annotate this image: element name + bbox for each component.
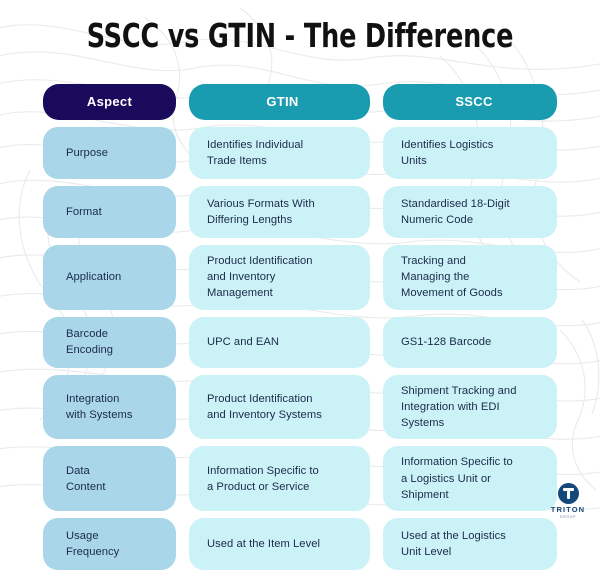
cell-text: GS1-128 Barcode bbox=[401, 334, 491, 350]
table-row: Integration with Systems Product Identif… bbox=[43, 375, 557, 440]
table-row: Format Various Formats With Differing Le… bbox=[43, 186, 557, 238]
row-sscc-value: Identifies Logistics Units bbox=[383, 127, 557, 179]
row-sscc-value: Information Specific to a Logistics Unit… bbox=[383, 446, 557, 511]
row-aspect-label: Integration with Systems bbox=[43, 375, 176, 440]
brand-logo: TRITON GROUP bbox=[545, 483, 591, 519]
cell-text: Usage Frequency bbox=[66, 528, 119, 560]
row-aspect-label: Format bbox=[43, 186, 176, 238]
cell-text: Various Formats With Differing Lengths bbox=[207, 196, 315, 228]
cell-text: Identifies Logistics Units bbox=[401, 137, 493, 169]
row-sscc-value: Used at the Logistics Unit Level bbox=[383, 518, 557, 570]
table-row: Usage Frequency Used at the Item Level U… bbox=[43, 518, 557, 570]
triton-t-icon bbox=[558, 483, 579, 504]
cell-text: Used at the Logistics Unit Level bbox=[401, 528, 506, 560]
page-title: SSCC vs GTIN - The Difference bbox=[87, 18, 514, 54]
row-gtin-value: Product Identification and Inventory Man… bbox=[189, 245, 370, 310]
table-header-row: Aspect GTIN SSCC bbox=[43, 84, 557, 120]
row-sscc-value: Tracking and Managing the Movement of Go… bbox=[383, 245, 557, 310]
comparison-table: Aspect GTIN SSCC Purpose Identifies Indi… bbox=[43, 84, 557, 570]
cell-text: Purpose bbox=[66, 145, 108, 161]
table-row: Application Product Identification and I… bbox=[43, 245, 557, 310]
cell-text: Barcode Encoding bbox=[66, 326, 113, 358]
cell-text: Shipment Tracking and Integration with E… bbox=[401, 383, 516, 432]
infographic-page: SSCC vs GTIN - The Difference Aspect GTI… bbox=[0, 0, 600, 527]
row-aspect-label: Application bbox=[43, 245, 176, 310]
row-gtin-value: Information Specific to a Product or Ser… bbox=[189, 446, 370, 511]
row-sscc-value: GS1-128 Barcode bbox=[383, 317, 557, 368]
table-row: Barcode Encoding UPC and EAN GS1-128 Bar… bbox=[43, 317, 557, 368]
header-cell-aspect: Aspect bbox=[43, 84, 176, 120]
cell-text: Identifies Individual Trade Items bbox=[207, 137, 303, 169]
row-aspect-label: Barcode Encoding bbox=[43, 317, 176, 368]
cell-text: Used at the Item Level bbox=[207, 536, 320, 552]
table-row: Data Content Information Specific to a P… bbox=[43, 446, 557, 511]
row-gtin-value: Various Formats With Differing Lengths bbox=[189, 186, 370, 238]
page-title-container: SSCC vs GTIN - The Difference bbox=[0, 18, 600, 54]
cell-text: Application bbox=[66, 269, 121, 285]
row-sscc-value: Shipment Tracking and Integration with E… bbox=[383, 375, 557, 440]
brand-name: TRITON bbox=[545, 506, 591, 514]
cell-text: Product Identification and Inventory Man… bbox=[207, 253, 313, 302]
cell-text: Information Specific to a Logistics Unit… bbox=[401, 454, 513, 503]
cell-text: Integration with Systems bbox=[66, 391, 133, 423]
cell-text: Information Specific to a Product or Ser… bbox=[207, 463, 319, 495]
row-sscc-value: Standardised 18-Digit Numeric Code bbox=[383, 186, 557, 238]
cell-text: Tracking and Managing the Movement of Go… bbox=[401, 253, 503, 302]
header-cell-gtin: GTIN bbox=[189, 84, 370, 120]
row-aspect-label: Purpose bbox=[43, 127, 176, 179]
row-aspect-label: Data Content bbox=[43, 446, 176, 511]
row-gtin-value: UPC and EAN bbox=[189, 317, 370, 368]
row-aspect-label: Usage Frequency bbox=[43, 518, 176, 570]
row-gtin-value: Used at the Item Level bbox=[189, 518, 370, 570]
table-row: Purpose Identifies Individual Trade Item… bbox=[43, 127, 557, 179]
t-stem bbox=[567, 488, 570, 499]
cell-text: Product Identification and Inventory Sys… bbox=[207, 391, 322, 423]
brand-subtitle: GROUP bbox=[545, 515, 591, 519]
header-cell-sscc: SSCC bbox=[383, 84, 557, 120]
cell-text: UPC and EAN bbox=[207, 334, 279, 350]
row-gtin-value: Identifies Individual Trade Items bbox=[189, 127, 370, 179]
row-gtin-value: Product Identification and Inventory Sys… bbox=[189, 375, 370, 440]
cell-text: Data Content bbox=[66, 463, 106, 495]
cell-text: Standardised 18-Digit Numeric Code bbox=[401, 196, 510, 228]
cell-text: Format bbox=[66, 204, 102, 220]
